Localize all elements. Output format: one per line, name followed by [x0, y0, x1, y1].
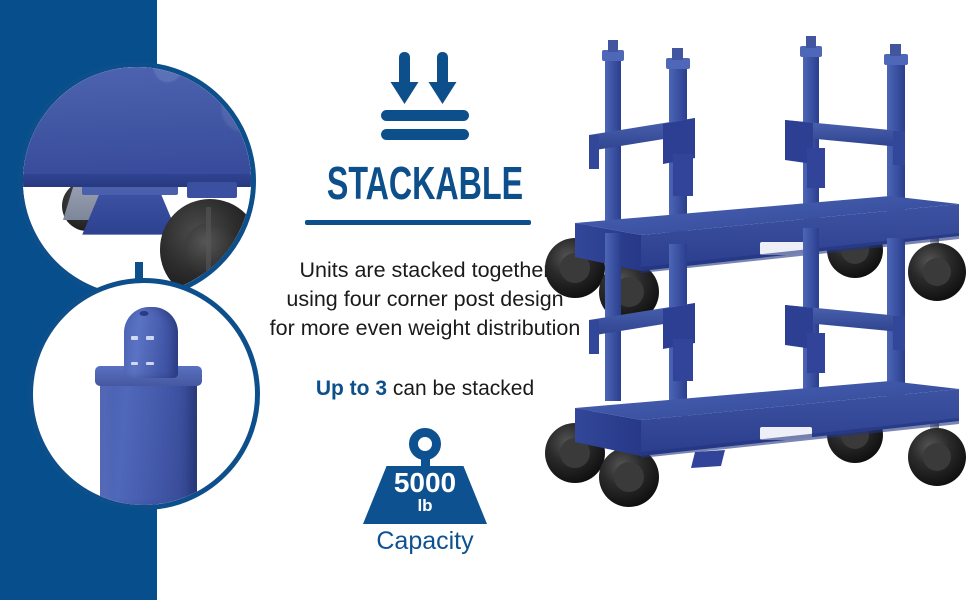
cross-arms-lower: [589, 303, 905, 381]
post-slot: [131, 336, 138, 339]
caster-bracket: [187, 182, 237, 198]
capacity-unit: lb: [363, 497, 487, 515]
weight-body: 5000 lb: [363, 466, 487, 524]
stacked-platform-carts-photo: [545, 28, 970, 578]
title-divider: [305, 220, 531, 225]
feature-description: Units are stacked together using four co…: [257, 256, 593, 343]
post-slot: [146, 362, 153, 365]
corner-post-dome-cap: [124, 307, 178, 378]
corner-post-photo: [33, 283, 255, 505]
capacity-value: 5000: [363, 468, 487, 498]
capacity-block: 5000 lb Capacity: [265, 428, 585, 556]
description-line-3: for more even weight distribution: [257, 314, 593, 343]
post-slot: [131, 362, 138, 365]
description-line-1: Units are stacked together: [257, 256, 593, 285]
page-title: STACKABLE: [313, 160, 537, 206]
feature-column: STACKABLE Units are stacked together usi…: [265, 0, 585, 600]
deck-underside-photo: [23, 67, 251, 295]
weight-icon: 5000 lb: [357, 428, 493, 524]
stack-arrows-icon: [377, 50, 473, 147]
cross-arms-upper: [589, 118, 905, 196]
capacity-label: Capacity: [265, 526, 585, 556]
corner-post-body: [100, 372, 198, 510]
cart-deck-underside: [18, 62, 256, 181]
post-slot: [146, 336, 153, 339]
infographic-stage: STACKABLE Units are stacked together usi…: [0, 0, 970, 600]
stack-limit-rest: can be stacked: [387, 377, 534, 400]
stacking-foot: [691, 450, 725, 468]
cart-lower: [545, 228, 966, 507]
stack-limit-note: Up to 3 can be stacked: [257, 376, 593, 402]
stack-limit-value: Up to 3: [316, 377, 387, 400]
callout-circle-corner-post: [28, 278, 260, 510]
description-line-2: using four corner post design: [257, 285, 593, 314]
